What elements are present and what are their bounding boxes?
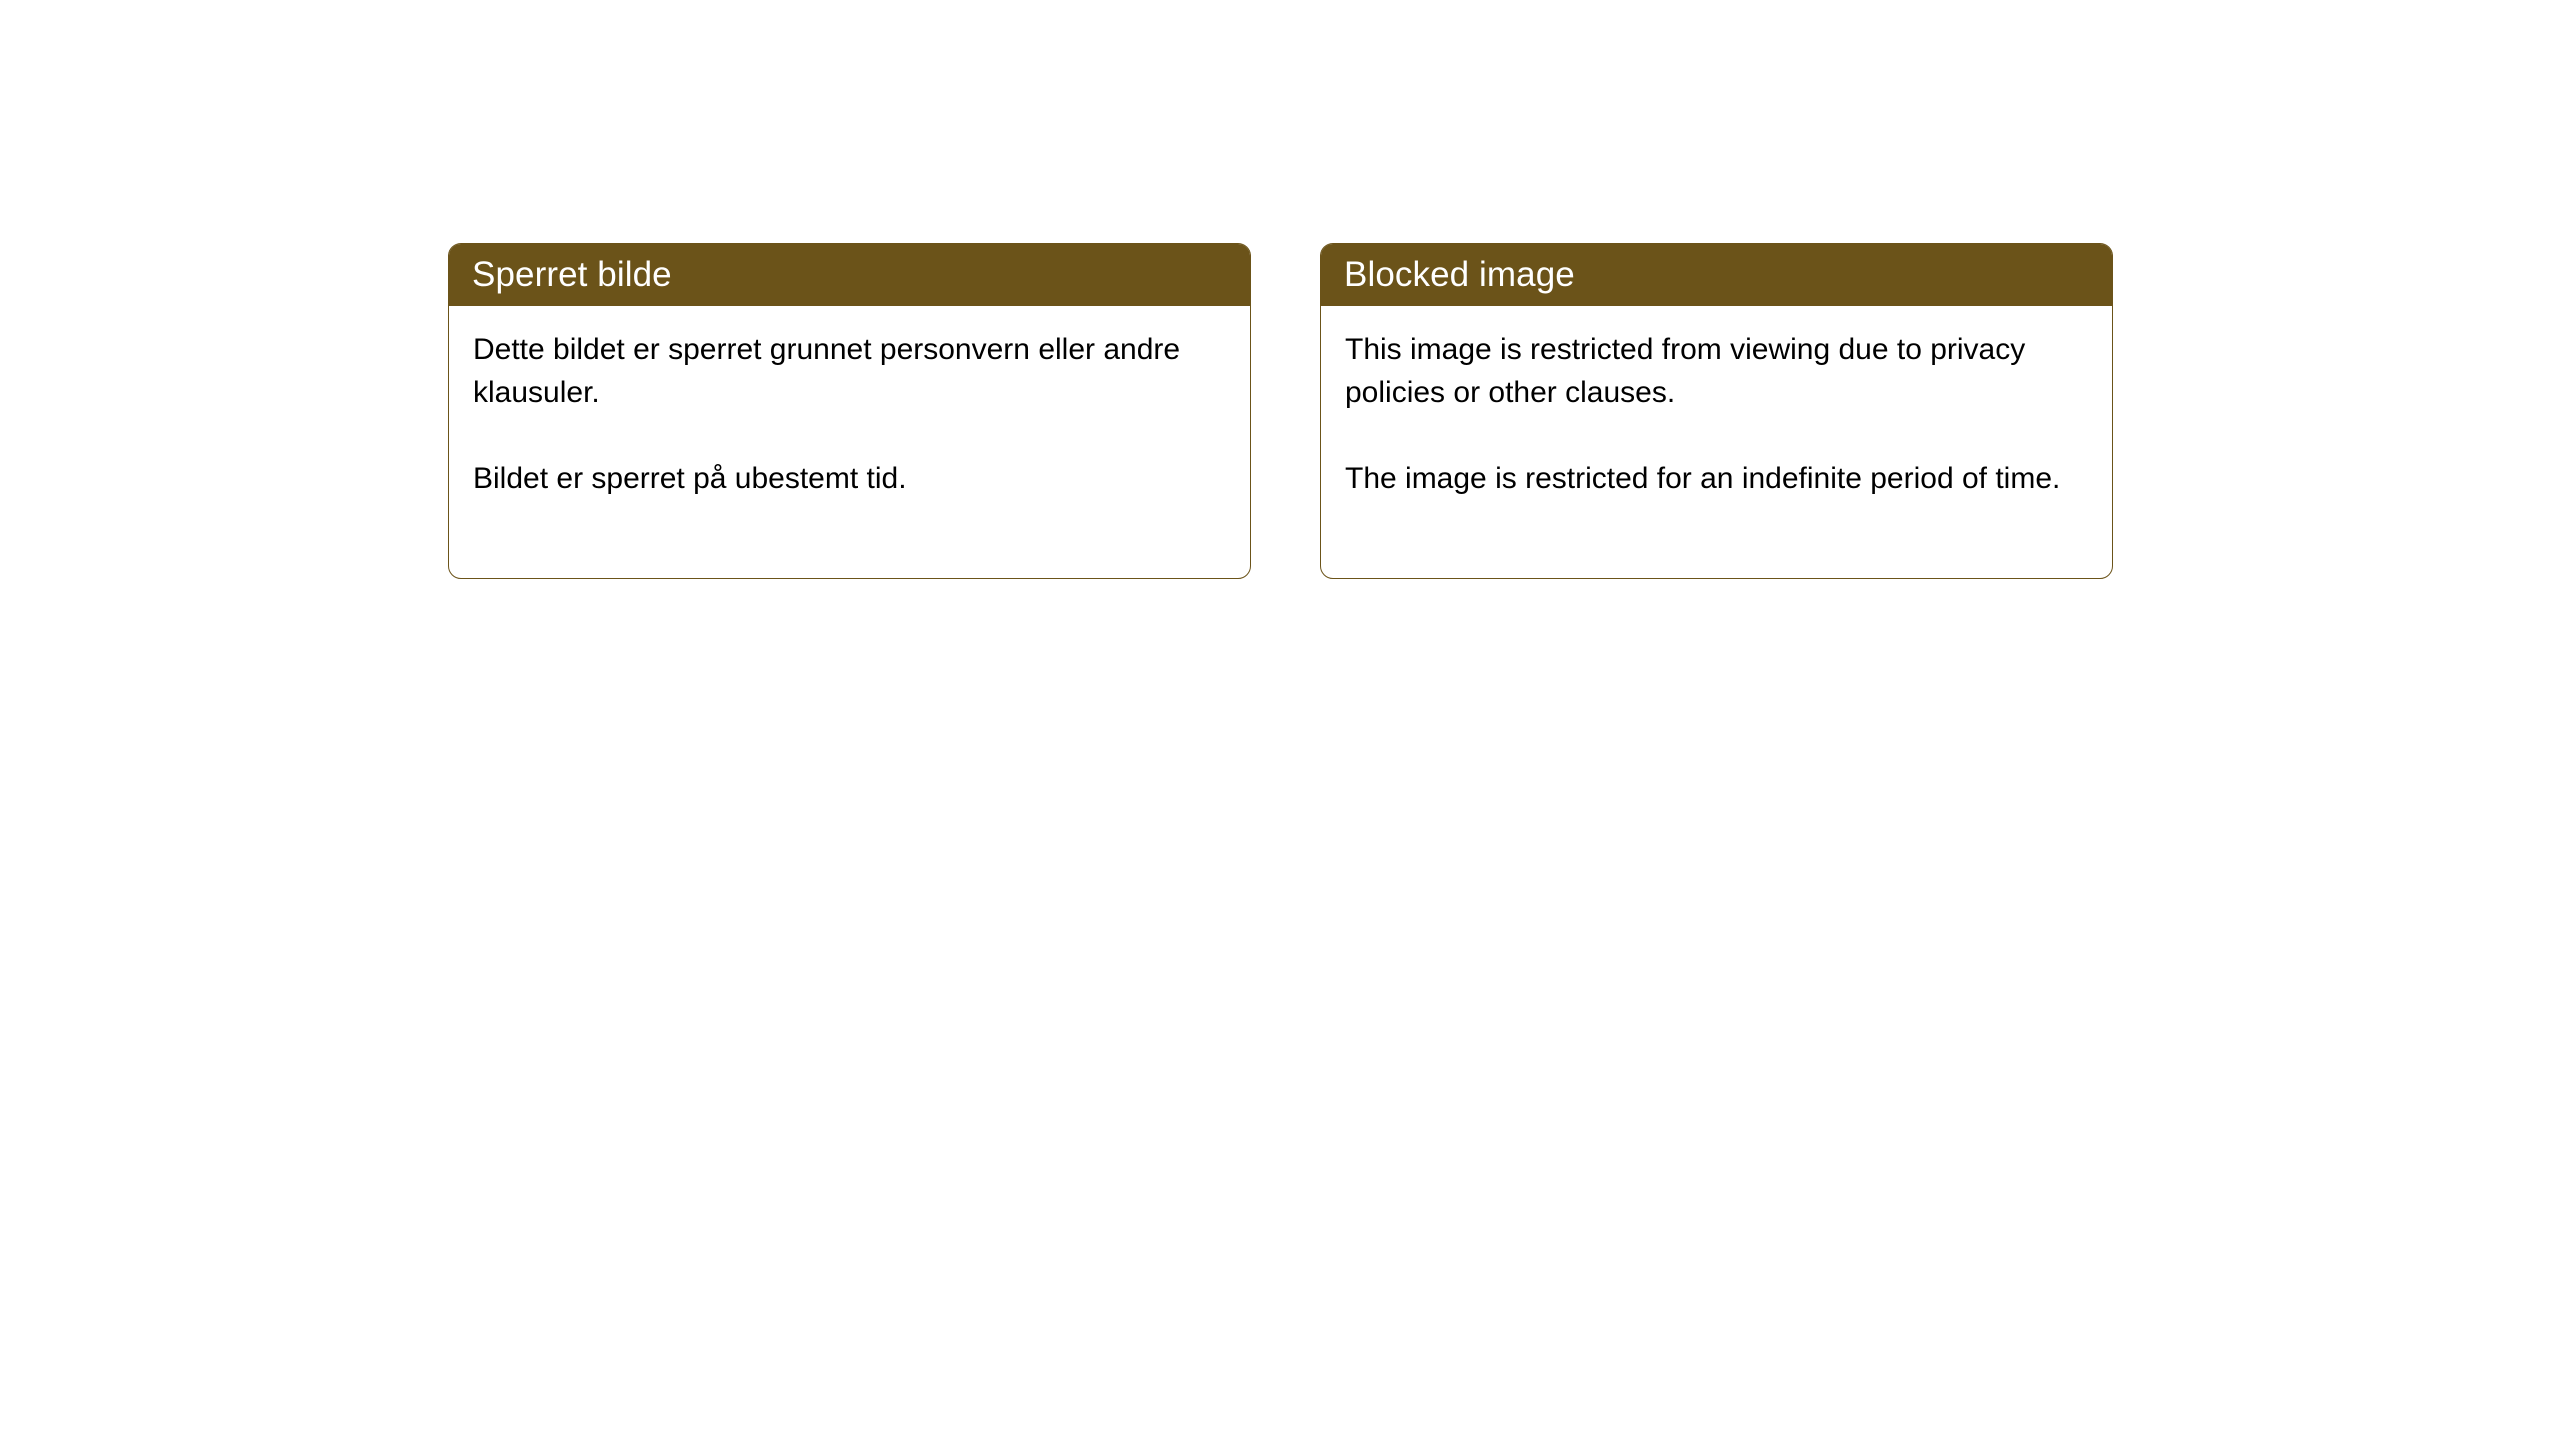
card-header-english: Blocked image	[1321, 244, 2112, 306]
card-paragraph-english-2: The image is restricted for an indefinit…	[1345, 457, 2088, 500]
card-paragraph-english-1: This image is restricted from viewing du…	[1345, 328, 2088, 414]
page-canvas: Sperret bilde Dette bildet er sperret gr…	[0, 0, 2560, 1440]
card-body-english: This image is restricted from viewing du…	[1321, 306, 2112, 500]
card-header-norwegian: Sperret bilde	[449, 244, 1250, 306]
card-paragraph-norwegian-2: Bildet er sperret på ubestemt tid.	[473, 457, 1226, 500]
card-body-norwegian: Dette bildet er sperret grunnet personve…	[449, 306, 1250, 500]
blocked-image-card-norwegian: Sperret bilde Dette bildet er sperret gr…	[448, 243, 1251, 579]
card-paragraph-norwegian-1: Dette bildet er sperret grunnet personve…	[473, 328, 1226, 414]
blocked-image-card-english: Blocked image This image is restricted f…	[1320, 243, 2113, 579]
card-title-english: Blocked image	[1344, 244, 1575, 306]
card-title-norwegian: Sperret bilde	[472, 244, 672, 306]
